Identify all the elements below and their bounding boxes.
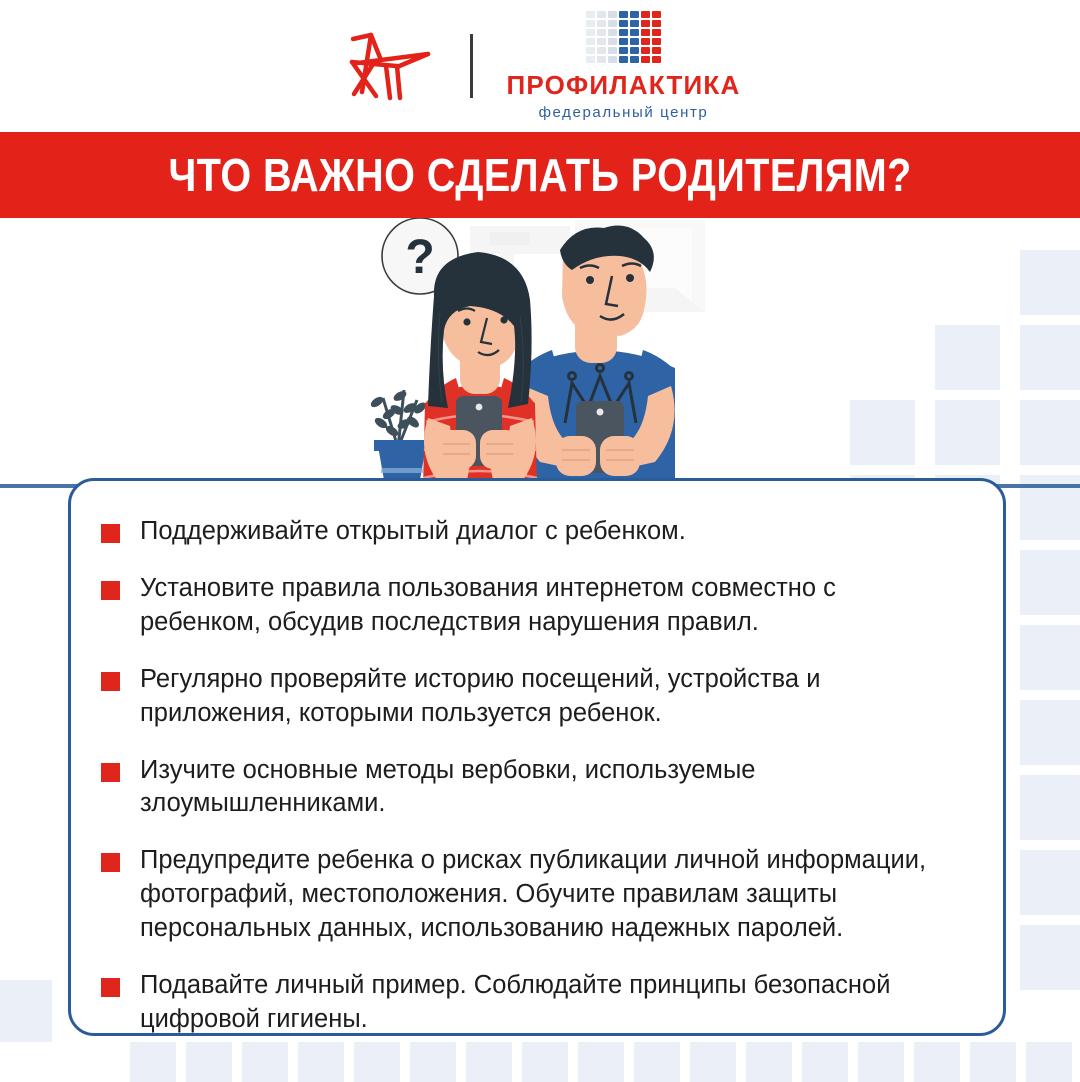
brand-grid-cell	[652, 47, 661, 54]
brand-grid-cell	[630, 47, 639, 54]
brand-grid-cell	[652, 20, 661, 27]
list-item-text: Поддерживайте открытый диалог с ребенком…	[140, 515, 686, 549]
page-title: ЧТО ВАЖНО СДЕЛАТЬ РОДИТЕЛЯМ?	[168, 148, 911, 202]
decorative-square	[354, 1042, 400, 1082]
brand-grid-cell	[597, 11, 606, 18]
decorative-square	[914, 1042, 960, 1082]
brand-grid-cell	[652, 56, 661, 63]
decorative-square	[130, 1042, 176, 1082]
decorative-square	[1020, 625, 1080, 690]
brand-grid-cell	[652, 29, 661, 36]
bullet-square-icon	[101, 524, 120, 543]
brand-grid-cell	[652, 38, 661, 45]
bullet-square-icon	[101, 672, 120, 691]
decorative-square	[0, 980, 52, 1042]
list-item: Подавайте личный пример. Соблюдайте прин…	[101, 969, 959, 1037]
decorative-square	[970, 1042, 1016, 1082]
brand-grid-cell	[619, 11, 628, 18]
list-item-text: Изучите основные методы вербовки, исполь…	[140, 754, 959, 822]
list-item: Поддерживайте открытый диалог с ребенком…	[101, 515, 959, 549]
list-item: Установите правила пользования интернето…	[101, 572, 959, 640]
decorative-square	[634, 1042, 680, 1082]
decorative-square	[410, 1042, 456, 1082]
logo-divider	[470, 34, 473, 98]
decorative-square	[522, 1042, 568, 1082]
brand-grid-cell	[586, 29, 595, 36]
brand-lockup: ПРОФИЛАКТИКА федеральный центр	[507, 11, 741, 121]
decorative-square	[298, 1042, 344, 1082]
decorative-square	[466, 1042, 512, 1082]
brand-grid-cell	[619, 29, 628, 36]
list-item-text: Регулярно проверяйте историю посещений, …	[140, 663, 959, 731]
brand-grid-cell	[608, 11, 617, 18]
decorative-square	[242, 1042, 288, 1082]
brand-grid-cell	[586, 11, 595, 18]
decorative-square	[1020, 550, 1080, 615]
brand-grid-cell	[608, 20, 617, 27]
bullet-square-icon	[101, 853, 120, 872]
pixel-grid-icon	[586, 11, 661, 63]
brand-grid-cell	[630, 11, 639, 18]
potted-plant-icon	[369, 389, 428, 480]
decorative-square	[1026, 1042, 1072, 1082]
brand-grid-cell	[597, 56, 606, 63]
list-item: Изучите основные методы вербовки, исполь…	[101, 754, 959, 822]
brand-grid-cell	[608, 38, 617, 45]
decorative-square	[858, 1042, 904, 1082]
decorative-square	[690, 1042, 736, 1082]
brand-grid-cell	[641, 56, 650, 63]
list-item-text: Подавайте личный пример. Соблюдайте прин…	[140, 969, 959, 1037]
list-item: Предупредите ребенка о рисках публикации…	[101, 844, 959, 946]
woman-figure	[423, 252, 537, 488]
brand-grid-cell	[608, 29, 617, 36]
decorative-square	[1020, 775, 1080, 840]
man-figure	[520, 226, 675, 488]
brand-grid-cell	[630, 56, 639, 63]
decorative-square	[1020, 700, 1080, 765]
list-item-text: Предупредите ребенка о рисках публикации…	[140, 844, 959, 946]
brand-grid-cell	[597, 29, 606, 36]
decorative-square	[1020, 850, 1080, 915]
brand-subtitle: федеральный центр	[539, 104, 709, 121]
tips-card: Поддерживайте открытый диалог с ребенком…	[68, 478, 1006, 1036]
brand-grid-cell	[619, 56, 628, 63]
brand-grid-cell	[608, 47, 617, 54]
decorative-square	[802, 1042, 848, 1082]
brand-grid-cell	[597, 20, 606, 27]
brand-grid-cell	[586, 38, 595, 45]
brand-grid-cell	[652, 11, 661, 18]
bullet-square-icon	[101, 978, 120, 997]
brand-grid-cell	[619, 47, 628, 54]
brand-grid-cell	[586, 56, 595, 63]
decorative-square	[186, 1042, 232, 1082]
list-item: Регулярно проверяйте историю посещений, …	[101, 663, 959, 731]
decorative-square	[1020, 925, 1080, 990]
red-chair-line-logo	[340, 30, 436, 102]
brand-name: ПРОФИЛАКТИКА	[507, 70, 741, 101]
illustration-parents-with-phones: ?	[0, 218, 1080, 488]
brand-grid-cell	[641, 11, 650, 18]
brand-grid-cell	[630, 20, 639, 27]
list-item-text: Установите правила пользования интернето…	[140, 572, 959, 640]
brand-grid-cell	[619, 38, 628, 45]
bullet-square-icon	[101, 581, 120, 600]
brand-grid-cell	[608, 56, 617, 63]
brand-grid-cell	[641, 20, 650, 27]
decorative-square	[746, 1042, 792, 1082]
headline-banner: ЧТО ВАЖНО СДЕЛАТЬ РОДИТЕЛЯМ?	[0, 132, 1080, 218]
brand-grid-cell	[586, 20, 595, 27]
brand-grid-cell	[597, 47, 606, 54]
brand-header: ПРОФИЛАКТИКА федеральный центр	[0, 0, 1080, 132]
brand-grid-cell	[630, 38, 639, 45]
brand-grid-cell	[641, 38, 650, 45]
brand-grid-cell	[597, 38, 606, 45]
decorative-square	[578, 1042, 624, 1082]
brand-grid-cell	[630, 29, 639, 36]
svg-text:?: ?	[405, 231, 434, 284]
bullet-square-icon	[101, 763, 120, 782]
brand-grid-cell	[586, 47, 595, 54]
brand-grid-cell	[641, 47, 650, 54]
brand-grid-cell	[641, 29, 650, 36]
brand-grid-cell	[619, 20, 628, 27]
